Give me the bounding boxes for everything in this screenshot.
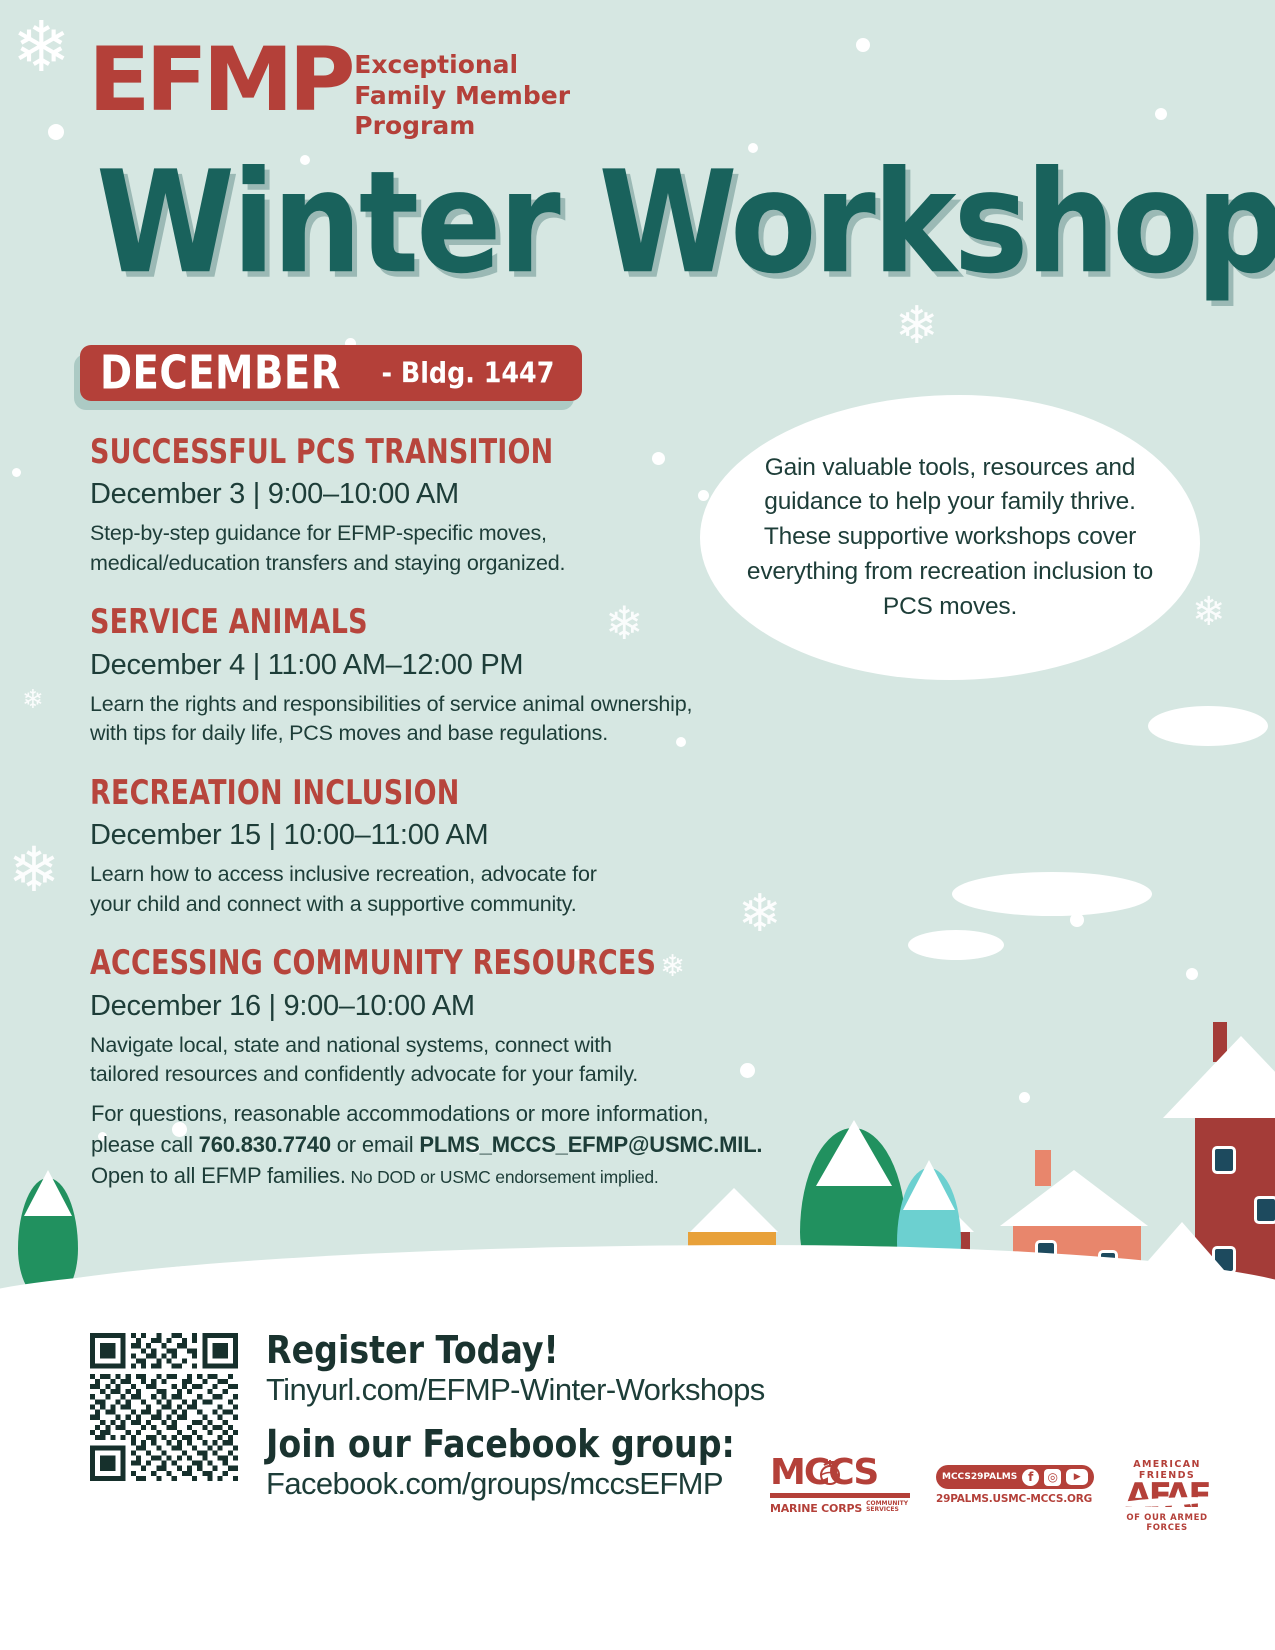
banner-location-label: - Bldg. 1447 [381,359,554,388]
workshop-description-line-2: medical/education transfers and staying … [90,551,565,575]
workshop-description-line-1: Learn how to access inclusive recreation… [90,862,597,886]
house-roof-small-left [690,1188,778,1232]
mccs-tagline-sub-line-2: SERVICES [866,1506,899,1513]
workshop-item: SUCCESSFUL PCS TRANSITION December 3 | 9… [90,438,790,578]
window-tall-1 [1212,1146,1236,1174]
cloud-blob [952,872,1152,916]
workshop-description-line-2: with tips for daily life, PCS moves and … [90,721,608,745]
social-handle-pill: MCCS29PALMS f ◎ ▶ [936,1465,1094,1489]
workshop-description-line-1: Step-by-step guidance for EFMP-specific … [90,521,547,545]
mccs-tagline-sub: COMMUNITY SERVICES [866,1501,908,1514]
snow-dot [48,124,64,140]
register-block: Register Today! Tinyurl.com/EFMP-Winter-… [266,1330,765,1503]
afaf-wordmark-text: AFAF [1125,1476,1208,1516]
register-heading: Register Today! [266,1330,740,1372]
afaf-logo: AMERICAN FRIENDS AFAF OF OUR ARMED FORCE… [1107,1455,1227,1533]
mccs-tagline-main: MARINE CORPS [770,1503,862,1514]
snow-dot [12,468,21,477]
footer-logos: MCCS MARINE CORPS COMMUNITY SERVICES M [770,1455,1227,1533]
snowflake-icon: ❄ [1192,592,1226,632]
intro-bubble-text: Gain valuable tools, resources and guida… [740,451,1160,625]
workshop-title: SERVICE ANIMALS [90,603,741,641]
qr-code[interactable] [90,1333,238,1481]
snowflake-icon: ❄ [895,300,939,352]
workshop-datetime: December 15 | 10:00–11:00 AM [90,817,790,855]
snowflake-icon: ❄ [12,12,71,82]
workshop-description-line-2: your child and connect with a supportive… [90,892,577,916]
workshop-description-line-1: Learn the rights and responsibilities of… [90,692,692,716]
social-handle-label: MCCS29PALMS [942,1472,1017,1482]
workshop-title: ACCESSING COMMUNITY RESOURCES [90,944,741,982]
facebook-heading: Join our Facebook group: [266,1424,740,1466]
efmp-expansion: Exceptional Family Member Program [354,50,570,142]
register-url[interactable]: Tinyurl.com/EFMP-Winter-Workshops [266,1371,765,1409]
efmp-logo: EFMP Exceptional Family Member Program [88,42,570,142]
cloud-blob [1148,706,1268,746]
page-title: Winter Workshops [96,148,1275,298]
workshop-item: RECREATION INCLUSION December 15 | 10:00… [90,779,790,919]
snow-dot [1155,108,1167,120]
efmp-expansion-line-1: Exceptional [354,50,570,81]
mccs-wordmark: MCCS [770,1455,910,1491]
eagle-globe-anchor-icon [815,1457,845,1487]
afaf-bottom-label: OF OUR ARMED FORCES [1107,1513,1227,1533]
social-logo-block: MCCS29PALMS f ◎ ▶ 29PALMS.USMC-MCCS.ORG [936,1455,1081,1505]
workshop-title: SUCCESSFUL PCS TRANSITION [90,433,741,471]
instagram-icon[interactable]: ◎ [1044,1469,1061,1486]
facebook-url[interactable]: Facebook.com/groups/mccsEFMP [266,1465,765,1503]
banner-month-label: DECEMBER [100,350,341,396]
workshop-description: Step-by-step guidance for EFMP-specific … [90,519,790,578]
house-roof-salmon [1000,1170,1148,1226]
poster-canvas: ❄ ❄ ❄ ❄ ❄ ❄ ❄ ❄ EFMP Exceptional Family … [0,0,1275,1650]
cloud-blob [908,930,1004,960]
window-tall-2 [1254,1196,1275,1224]
mccs-tagline: MARINE CORPS COMMUNITY SERVICES [770,1501,910,1514]
tree-snowcap-green [816,1120,892,1186]
house-roof-tall [1163,1036,1275,1118]
month-banner: DECEMBER - Bldg. 1447 [80,345,582,401]
snow-dot [856,38,870,52]
snowflake-icon: ❄ [8,840,60,902]
workshop-datetime: December 4 | 11:00 AM–12:00 PM [90,647,790,685]
tree-snowcap-left-pine [24,1170,72,1216]
workshop-title: RECREATION INCLUSION [90,774,741,812]
snow-dot [1186,968,1198,980]
youtube-icon[interactable]: ▶ [1066,1469,1088,1485]
efmp-expansion-line-3: Program [354,111,570,142]
mccs-rule [770,1493,910,1498]
mccs-website-url[interactable]: 29PALMS.USMC-MCCS.ORG [936,1493,1081,1505]
workshop-description: Learn the rights and responsibilities of… [90,690,790,749]
qr-code-svg [90,1333,238,1481]
afaf-wordmark: AFAF [1107,1481,1227,1512]
efmp-wordmark: EFMP [88,42,350,118]
snowflake-icon: ❄ [22,686,44,712]
workshop-description: Learn how to access inclusive recreation… [90,860,790,919]
efmp-expansion-line-2: Family Member [354,81,570,112]
facebook-icon[interactable]: f [1022,1469,1039,1486]
workshop-datetime: December 3 | 9:00–10:00 AM [90,476,790,514]
mccs-logo: MCCS MARINE CORPS COMMUNITY SERVICES [770,1455,910,1514]
workshop-item: SERVICE ANIMALS December 4 | 11:00 AM–12… [90,608,790,748]
tree-snowcap-teal [903,1160,955,1210]
